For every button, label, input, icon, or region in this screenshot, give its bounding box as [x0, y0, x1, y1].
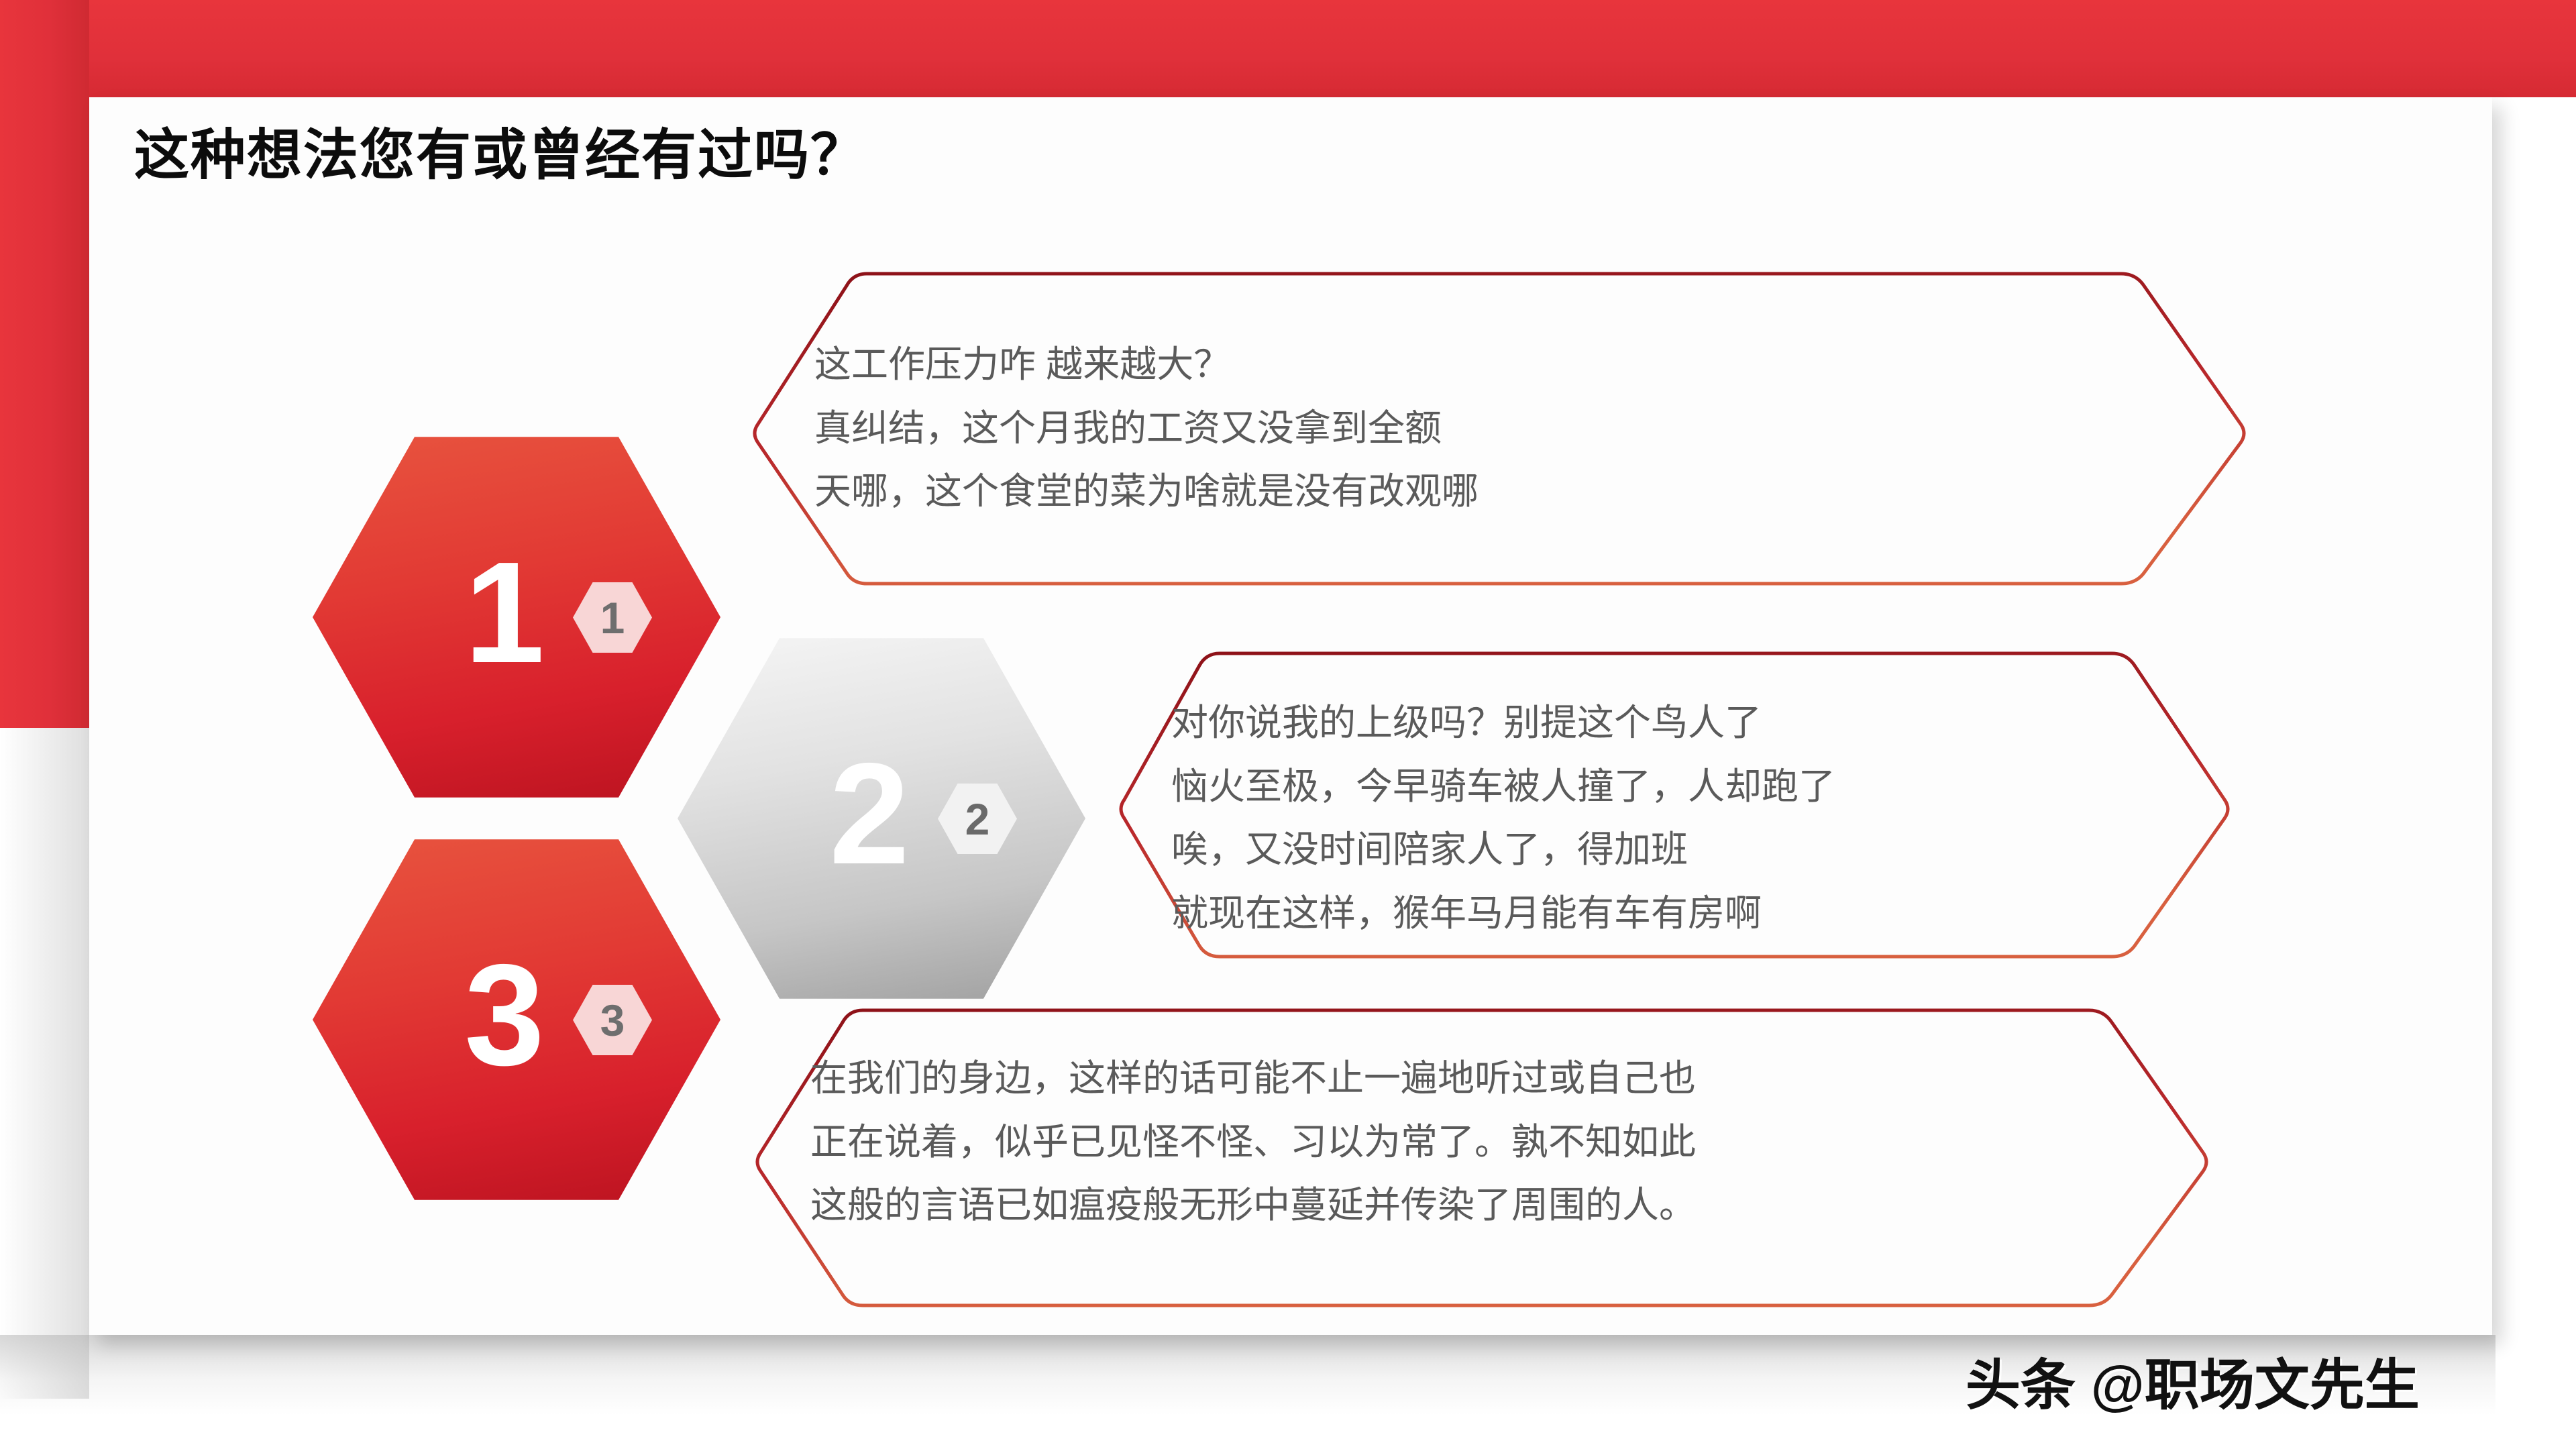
callout-line: 对你说我的上级吗？别提这个鸟人了 — [1171, 691, 1835, 755]
callout-box-3: 在我们的身边，这样的话可能不止一遍地听过或自己也 正在说着，似乎已见怪不怪、习以… — [755, 1006, 2131, 1308]
watermark-label: 头条 @职场文先生 — [1966, 1340, 2420, 1420]
card-left-shadow — [0, 728, 89, 1399]
callout-line: 恼火至极，今早骑车被人撞了，人却跑了 — [1171, 755, 1835, 818]
callout-line: 唉，又没时间陪家人了，得加班 — [1171, 818, 1835, 881]
callout-line: 正在说着，似乎已见怪不怪、习以为常了。孰不知如此 — [810, 1110, 1696, 1174]
callout-box-2: 对你说我的上级吗？别提这个鸟人了 恼火至极，今早骑车被人撞了，人却跑了 唉，又没… — [1119, 649, 2152, 959]
callout-text-3: 在我们的身边，这样的话可能不止一遍地听过或自己也 正在说着，似乎已见怪不怪、习以… — [810, 1046, 1696, 1237]
callout-text-1: 这工作压力咋 越来越大？ 真纠结，这个月我的工资又没拿到全额 天哪，这个食堂的菜… — [814, 333, 1479, 523]
hexagon-number-2: 2 — [829, 741, 910, 885]
hexagon-number-1: 1 — [464, 540, 545, 684]
page-title: 这种想法您有或曾经有过吗？ — [134, 124, 867, 187]
red-left-banner — [0, 0, 89, 728]
callout-line: 在我们的身边，这样的话可能不止一遍地听过或自己也 — [810, 1046, 1696, 1110]
callout-box-1: 这工作压力咋 越来越大？ 真纠结，这个月我的工资又没拿到全额 天哪，这个食堂的菜… — [753, 270, 2161, 586]
callout-line: 这般的言语已如瘟疫般无形中蔓延并传染了周围的人。 — [810, 1173, 1696, 1237]
callout-line: 就现在这样，猴年马月能有车有房啊 — [1171, 881, 1835, 945]
red-top-banner — [0, 0, 2576, 97]
callout-line: 这工作压力咋 越来越大？ — [814, 333, 1479, 396]
hexagon-badge-3: 3 — [573, 985, 652, 1055]
hexagon-number-3: 3 — [464, 943, 545, 1087]
callout-text-2: 对你说我的上级吗？别提这个鸟人了 恼火至极，今早骑车被人撞了，人却跑了 唉，又没… — [1171, 691, 1835, 945]
callout-line: 真纠结，这个月我的工资又没拿到全额 — [814, 396, 1479, 460]
slide-stage: 这种想法您有或曾经有过吗？ 这工作压力咋 越来越大？ 真纠结，这个月我的工资又没… — [0, 0, 2576, 1449]
callout-line: 天哪，这个食堂的菜为啥就是没有改观哪 — [814, 460, 1479, 523]
hexagon-badge-2: 2 — [938, 784, 1017, 854]
hexagon-badge-1: 1 — [573, 582, 652, 653]
